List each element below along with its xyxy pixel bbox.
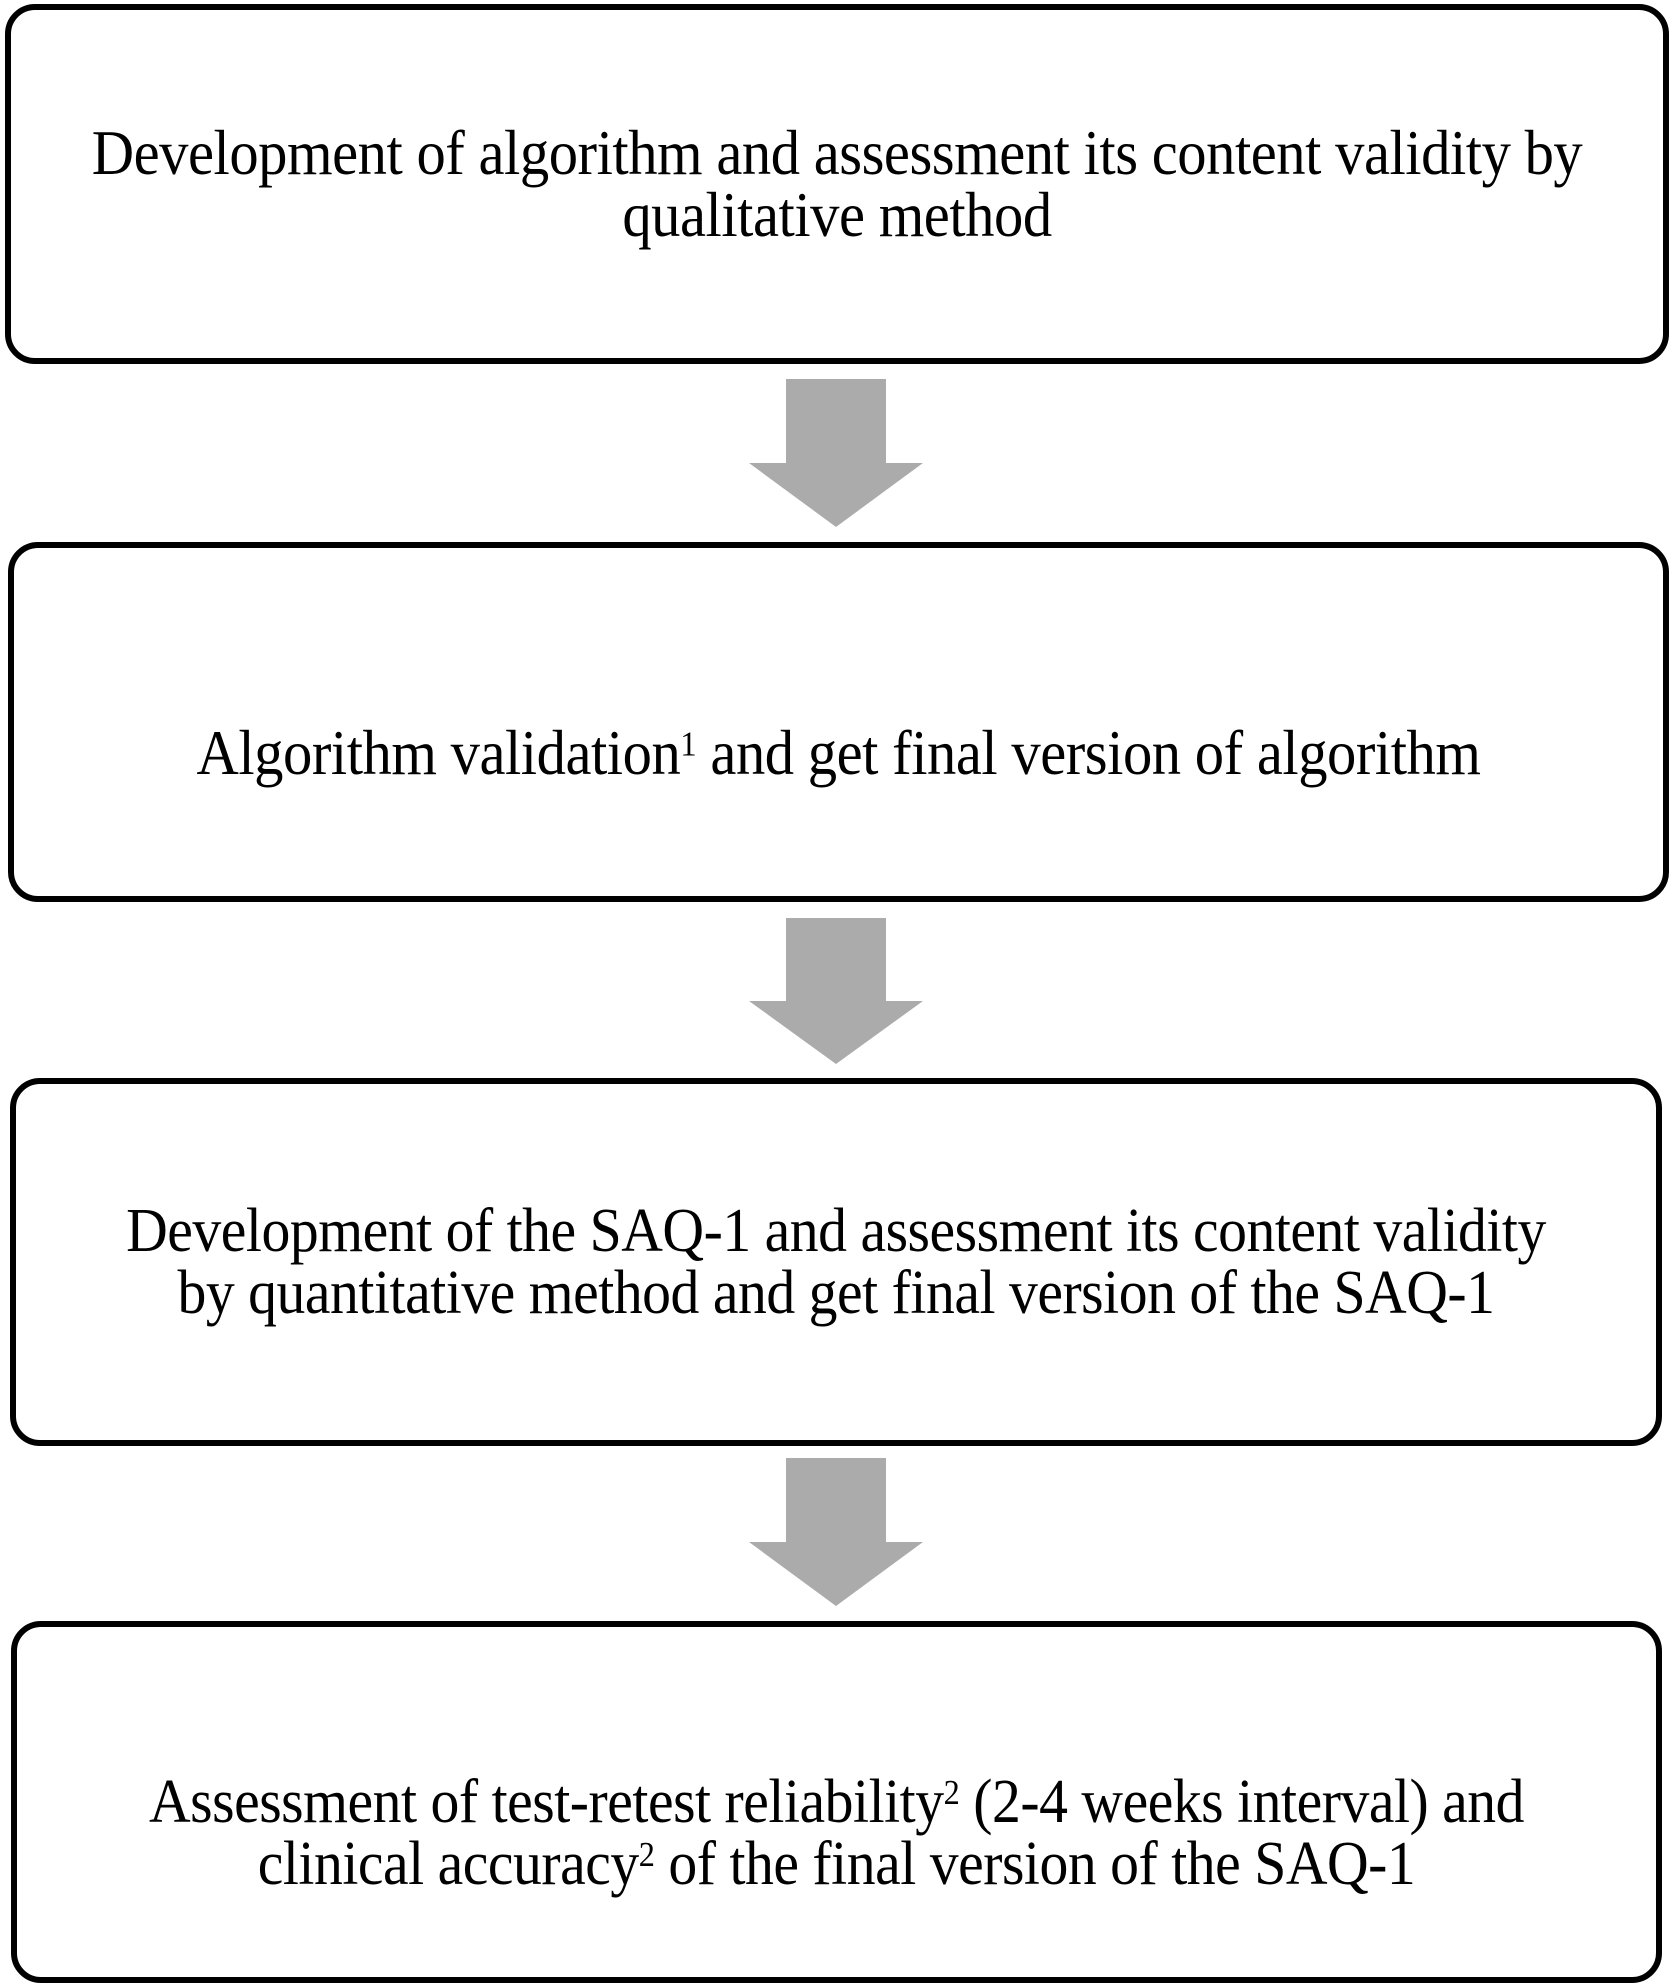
flowchart-step-4-box: Assessment of test-retest reliability2 (…	[11, 1621, 1662, 1983]
down-arrow-icon	[749, 1458, 923, 1606]
flowchart-step-4-text-c: of the final version of the SAQ-1	[654, 1830, 1415, 1898]
flowchart-step-2-superscript: 1	[680, 725, 696, 764]
flowchart-step-4-superscript-1: 2	[944, 1773, 960, 1812]
down-arrow-icon	[749, 918, 923, 1064]
flowchart-step-2-text-a: Algorithm validation	[197, 718, 681, 788]
flowchart-step-4-text-a: Assessment of test-retest reliability	[149, 1768, 944, 1836]
flowchart-step-1-label: Development of algorithm and assessment …	[69, 122, 1605, 246]
flowchart-step-2-box: Algorithm validation1 and get final vers…	[8, 542, 1669, 902]
flowchart-step-2-text-b: and get final version of algorithm	[696, 718, 1480, 788]
flowchart-step-2-label: Algorithm validation1 and get final vers…	[72, 660, 1606, 784]
down-arrow-icon	[749, 379, 923, 527]
flowchart-step-4-superscript-2: 2	[639, 1835, 655, 1874]
flowchart-step-4-label: Assessment of test-retest reliability2 (…	[74, 1709, 1598, 1895]
flowchart-step-3-box: Development of the SAQ-1 and assessment …	[10, 1078, 1662, 1446]
flowchart-step-1-box: Development of algorithm and assessment …	[5, 4, 1669, 364]
flowchart-step-3-label: Development of the SAQ-1 and assessment …	[73, 1200, 1598, 1324]
flowchart-diagram: Development of algorithm and assessment …	[0, 0, 1674, 1986]
